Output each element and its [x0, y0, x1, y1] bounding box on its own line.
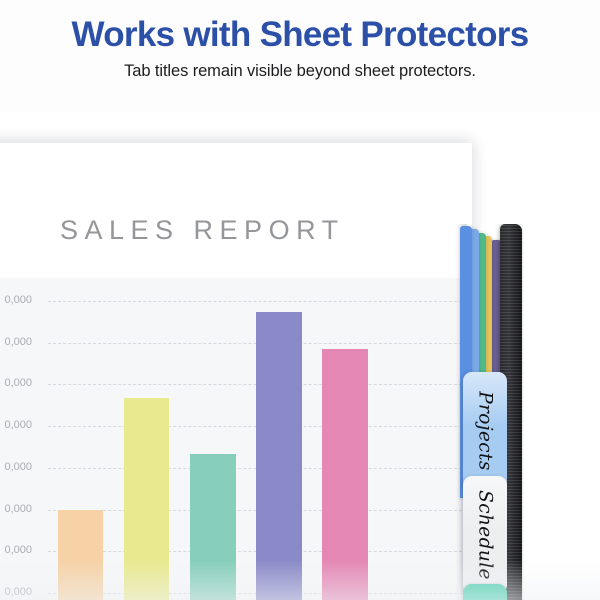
divider-tab-projects[interactable]: Projects [463, 372, 507, 490]
bar [322, 349, 368, 600]
teal-divider-edge [463, 584, 507, 600]
y-axis-label: 0,000 [0, 544, 32, 556]
gridline [48, 301, 472, 302]
bar [256, 312, 302, 600]
binder-with-dividers: Projects Schedule [455, 224, 600, 600]
promo-header: Works with Sheet Protectors Tab titles r… [0, 0, 600, 112]
bar [124, 398, 169, 600]
y-axis-label: 0,000 [0, 503, 32, 515]
y-axis-label: 0,000 [0, 294, 32, 306]
y-axis-label: 0,000 [0, 377, 32, 389]
product-photo: SALES REPORT 0,000 0,000 0,000 0,000 0,0… [0, 112, 600, 600]
page-subtitle: Tab titles remain visible beyond sheet p… [0, 62, 600, 81]
tab-label: Projects [475, 391, 496, 471]
page-title: Works with Sheet Protectors [0, 16, 600, 55]
tab-label: Schedule [475, 490, 496, 580]
sales-report-sheet: SALES REPORT 0,000 0,000 0,000 0,000 0,0… [0, 143, 472, 600]
y-axis-label: 0,000 [0, 419, 32, 431]
y-axis-label: 0,000 [0, 586, 32, 598]
y-axis-label: 0,000 [0, 461, 32, 473]
bar [58, 510, 103, 600]
report-title: SALES REPORT [60, 215, 345, 246]
y-axis-label: 0,000 [0, 336, 32, 348]
divider-tab-schedule[interactable]: Schedule [463, 476, 507, 594]
bar-chart: 0,000 0,000 0,000 0,000 0,000 0,000 0,00… [0, 278, 472, 600]
bar [190, 454, 236, 600]
